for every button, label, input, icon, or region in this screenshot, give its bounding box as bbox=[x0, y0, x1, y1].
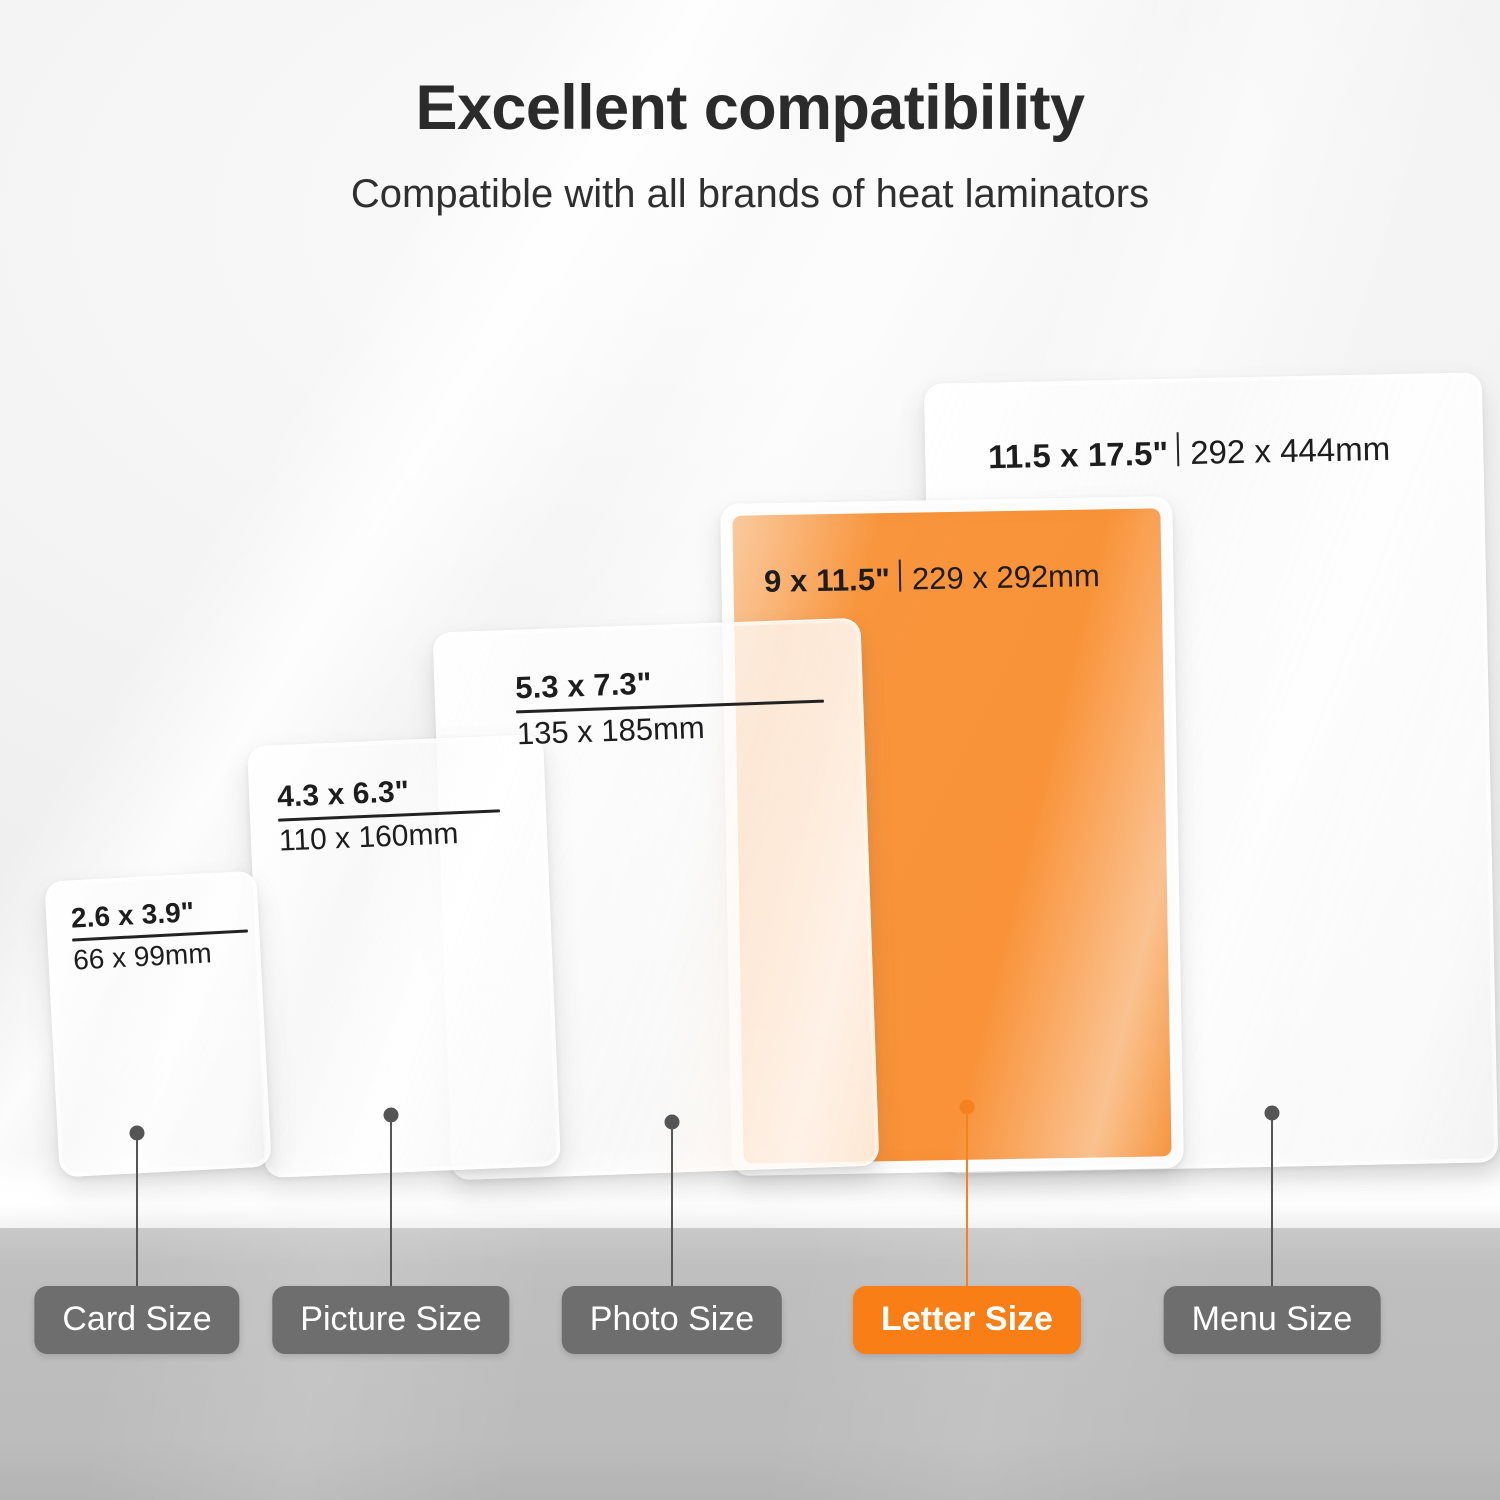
pill-letter-size[interactable]: Letter Size bbox=[853, 1286, 1081, 1354]
size-label-letter-mm: 229 x 292mm bbox=[912, 558, 1100, 597]
size-label-menu-mm: 292 x 444mm bbox=[1190, 429, 1391, 471]
size-label-letter: 9 x 11.5" 229 x 292mm bbox=[764, 554, 1100, 599]
size-label-letter-inches: 9 x 11.5" bbox=[764, 561, 891, 599]
callout-leader-line bbox=[671, 1122, 673, 1286]
pill-card-size[interactable]: Card Size bbox=[34, 1286, 239, 1354]
pill-photo-size[interactable]: Photo Size bbox=[562, 1286, 782, 1354]
floor-reflection bbox=[0, 1228, 1500, 1500]
callout-leader-line bbox=[966, 1107, 968, 1286]
size-label-separator bbox=[1177, 432, 1180, 466]
size-label-photo: 5.3 x 7.3" 135 x 185mm bbox=[515, 660, 826, 752]
callout-leader-line bbox=[1271, 1113, 1273, 1286]
size-label-menu: 11.5 x 17.5" 292 x 444mm bbox=[988, 426, 1391, 476]
pill-picture-size[interactable]: Picture Size bbox=[272, 1286, 509, 1354]
size-label-menu-inches: 11.5 x 17.5" bbox=[988, 434, 1169, 476]
callout-leader-line bbox=[390, 1115, 392, 1286]
page-title: Excellent compatibility bbox=[0, 72, 1500, 144]
size-label-card: 2.6 x 3.9" 66 x 99mm bbox=[70, 893, 250, 976]
page-subtitle: Compatible with all brands of heat lamin… bbox=[0, 172, 1500, 217]
pill-menu-size[interactable]: Menu Size bbox=[1164, 1286, 1381, 1354]
callout-leader-line bbox=[136, 1133, 138, 1286]
size-label-picture: 4.3 x 6.3" 110 x 160mm bbox=[276, 771, 501, 858]
size-label-separator bbox=[899, 560, 902, 592]
product-scene: 11.5 x 17.5" 292 x 444mm 9 x 11.5" 229 x… bbox=[0, 0, 1500, 1500]
heading-block: Excellent compatibility Compatible with … bbox=[0, 0, 1500, 217]
